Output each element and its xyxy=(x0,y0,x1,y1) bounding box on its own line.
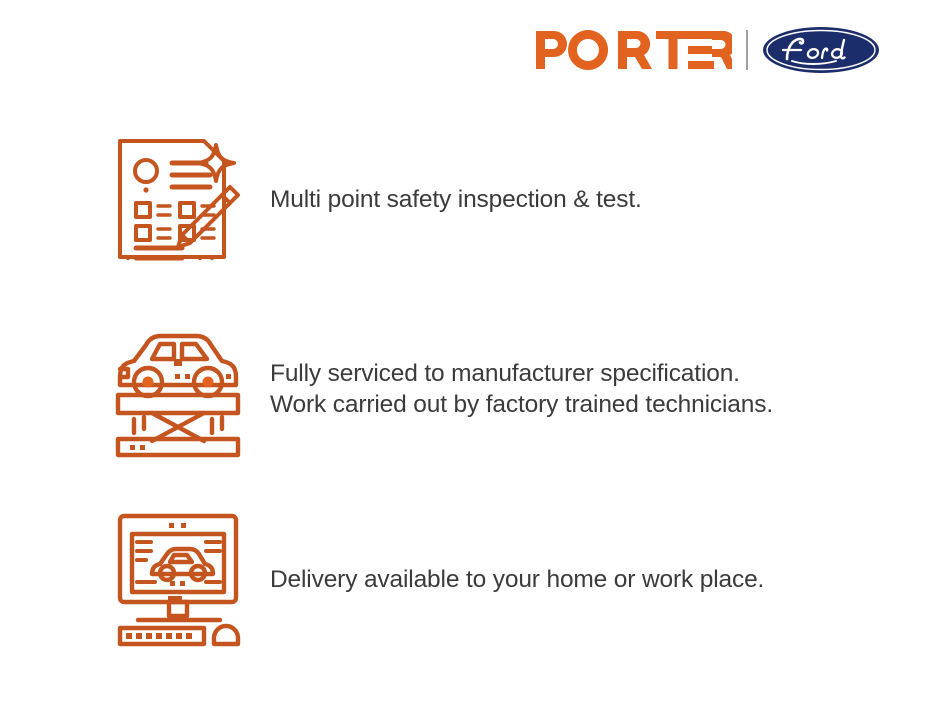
feature-text: Delivery available to your home or work … xyxy=(270,564,764,595)
feature-list: Multi point safety inspection & test. xyxy=(0,104,938,674)
car-on-lift-icon xyxy=(112,319,244,459)
feature-row: Fully serviced to manufacturer specifica… xyxy=(0,294,938,484)
computer-car-delivery-icon xyxy=(112,508,246,650)
feature-icon-slot xyxy=(112,319,248,459)
feature-text: Fully serviced to manufacturer specifica… xyxy=(270,358,773,420)
feature-row: Multi point safety inspection & test. xyxy=(0,104,938,294)
feature-icon-slot xyxy=(112,131,248,267)
porter-wordmark xyxy=(536,30,732,70)
clipboard-inspection-icon xyxy=(112,131,240,267)
feature-row: Delivery available to your home or work … xyxy=(0,484,938,674)
ford-logo-icon xyxy=(762,26,880,74)
feature-icon-slot xyxy=(112,508,248,650)
feature-text: Multi point safety inspection & test. xyxy=(270,184,642,215)
brand-header xyxy=(536,26,880,74)
brand-divider xyxy=(746,30,748,70)
porter-logotype-icon xyxy=(536,30,732,70)
